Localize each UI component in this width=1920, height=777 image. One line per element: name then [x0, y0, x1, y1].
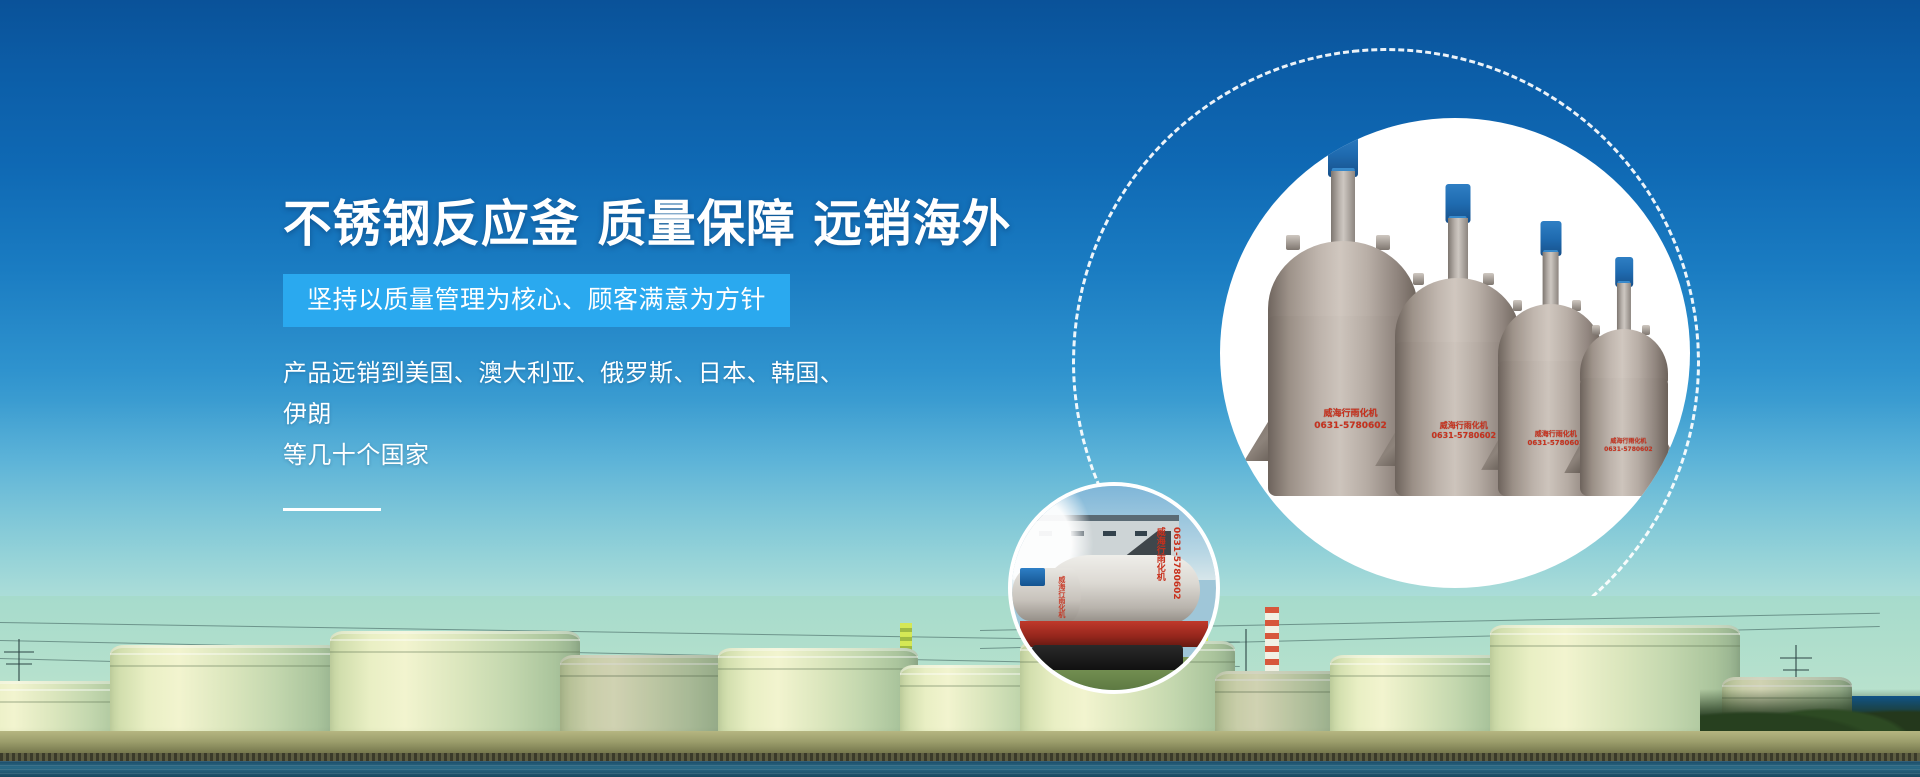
reactor-group: 威海行雨化机 0631-5780602 威海行雨化机 0631-5780602: [1220, 118, 1690, 588]
watermark-phone: 0631-5780602: [1298, 420, 1403, 432]
pylon-arm: [6, 663, 32, 665]
agitator-shaft-housing: [1448, 218, 1468, 282]
nozzle-flange: [1513, 300, 1522, 311]
truck-wheels: [1032, 645, 1183, 669]
watermark-phone: 0631-5780602: [1598, 446, 1660, 454]
page-title: 不锈钢反应釜 质量保障 远销海外: [283, 196, 1117, 252]
watermark-company: 威海行雨化机: [1155, 527, 1165, 581]
watermark-company-secondary: 威海行雨化机: [1057, 576, 1067, 618]
building-window: [1103, 531, 1116, 536]
nozzle-flange: [1413, 273, 1424, 285]
building-window: [1135, 531, 1148, 536]
pylon-arm: [1783, 669, 1809, 671]
nozzle-flange: [1592, 325, 1600, 335]
flatbed-truck: [1020, 621, 1208, 648]
watermark-company: 威海行雨化机: [1298, 408, 1403, 420]
divider-rule: [283, 508, 381, 511]
pylon-arm: [1780, 657, 1812, 659]
banner-copy: 不锈钢反应釜 质量保障 远销海外 坚持以质量管理为核心、顾客满意为方针 产品远销…: [283, 196, 1143, 511]
storage-tank: [330, 631, 580, 743]
subtitle-badge: 坚持以质量管理为核心、顾客满意为方针: [283, 274, 790, 327]
reactor-vessel: 威海行雨化机 0631-5780602: [1580, 306, 1668, 496]
storage-tank: [110, 645, 340, 743]
storage-tank: [1330, 655, 1505, 743]
agitator-motor: [1020, 568, 1044, 586]
hero-banner: 不锈钢反应釜 质量保障 远销海外 坚持以质量管理为核心、顾客满意为方针 产品远销…: [0, 0, 1920, 777]
watermark-company: 威海行雨化机: [1598, 438, 1660, 446]
nozzle-flange: [1286, 235, 1300, 250]
watermark-company: 威海行雨化机: [1420, 421, 1508, 431]
watermark: 威海行雨化机 0631-5780602: [1298, 408, 1403, 432]
background-scene-tank-farm: [0, 596, 1920, 777]
storage-tank: [718, 648, 918, 743]
agitator-shaft-housing: [1542, 252, 1559, 309]
description-block: 产品远销到美国、澳大利亚、俄罗斯、日本、韩国、伊朗 等几十个国家: [283, 353, 863, 476]
waterfront: [0, 761, 1920, 777]
product-photo-inset: 威海行雨化机 0631-5780602 威海行雨化机: [1008, 482, 1220, 694]
quay-wall: [0, 731, 1920, 755]
agitator-shaft-housing: [1331, 171, 1355, 246]
watermark-phone: 0631-5780602: [1420, 431, 1508, 441]
nozzle-flange: [1376, 235, 1390, 250]
watermark: 威海行雨化机 0631-5780602: [1420, 421, 1508, 441]
storage-tank: [560, 655, 740, 743]
agitator-shaft-housing: [1617, 283, 1631, 332]
pylon-arm: [4, 651, 34, 653]
watermark: 威海行雨化机 0631-5780602: [1598, 438, 1660, 454]
description-line-2: 等几十个国家: [283, 435, 863, 476]
description-line-1: 产品远销到美国、澳大利亚、俄罗斯、日本、韩国、伊朗: [283, 353, 863, 435]
product-photo-main: 威海行雨化机 0631-5780602 威海行雨化机 0631-5780602: [1220, 118, 1690, 588]
watermark-phone: 0631-5780602: [1171, 527, 1181, 600]
